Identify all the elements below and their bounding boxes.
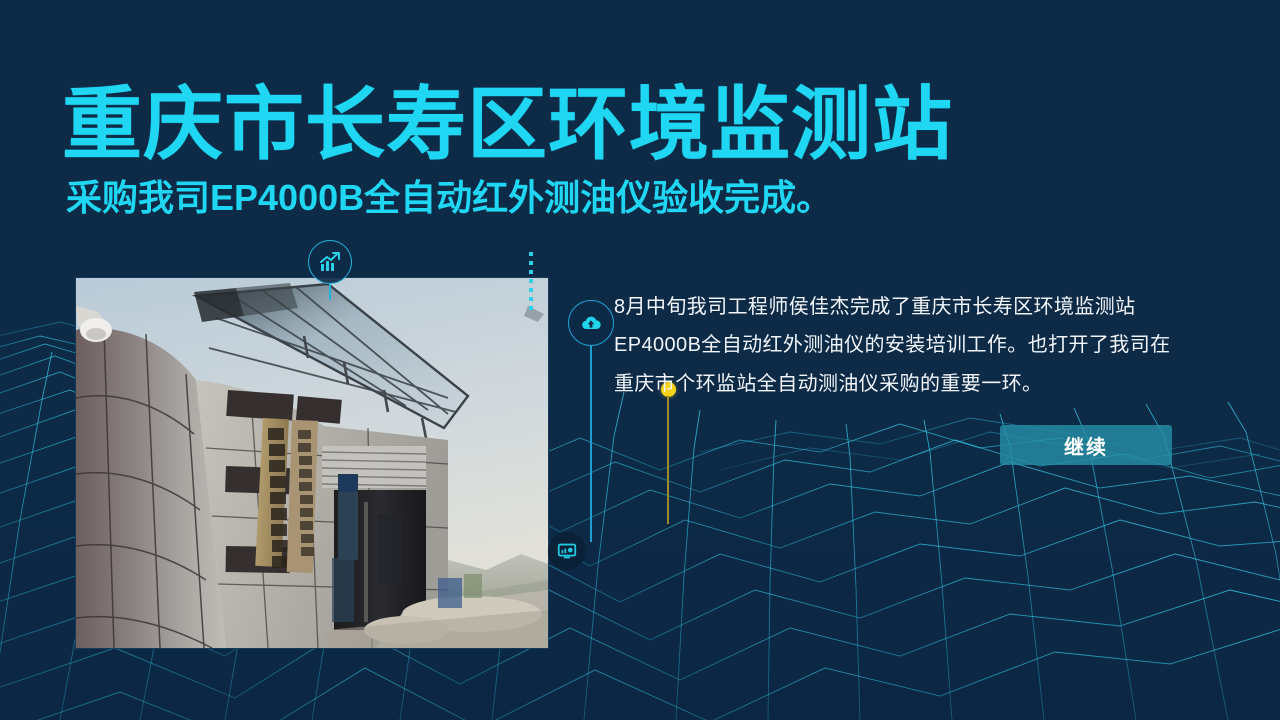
dotted-connector-line <box>529 252 533 314</box>
chart-node-stem <box>329 284 331 300</box>
presentation-slide: 重庆市长寿区环境监测站 采购我司EP4000B全自动红外测油仪验收完成。 <box>0 0 1280 720</box>
body-block: 8月中旬我司工程师侯佳杰完成了重庆市长寿区环境监测站EP4000B全自动红外测油… <box>614 288 1174 403</box>
page-subtitle: 采购我司EP4000B全自动红外测油仪验收完成。 <box>66 178 1072 218</box>
growth-chart-icon <box>308 240 352 284</box>
headline-block: 重庆市长寿区环境监测站 采购我司EP4000B全自动红外测油仪验收完成。 <box>62 84 1072 217</box>
yellow-marker-stem <box>667 396 669 524</box>
continue-button[interactable]: 继续 <box>1000 425 1172 465</box>
cloud-upload-icon <box>568 300 614 346</box>
cloud-node-stem <box>590 346 592 542</box>
monitor-dashboard-icon <box>548 532 586 570</box>
page-title: 重庆市长寿区环境监测站 <box>62 84 1072 166</box>
photo-sign-secondary <box>287 420 318 573</box>
building-photo <box>76 278 548 648</box>
body-text: 8月中旬我司工程师侯佳杰完成了重庆市长寿区环境监测站EP4000B全自动红外测油… <box>614 288 1174 403</box>
